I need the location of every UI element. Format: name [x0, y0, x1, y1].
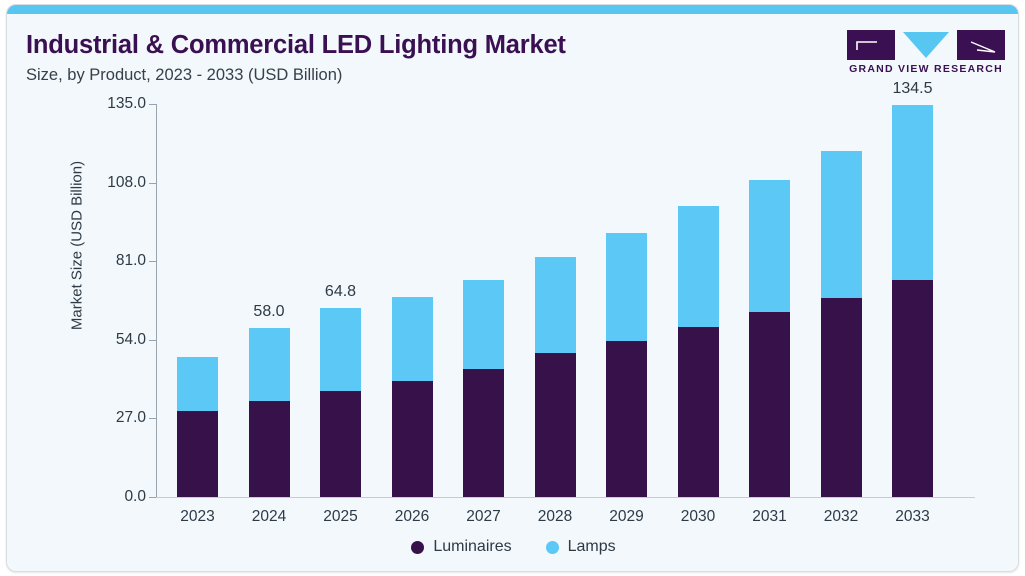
bar-segment-lamps[interactable]	[392, 297, 433, 381]
y-axis-tick-label: 54.0	[58, 331, 146, 349]
x-axis-tick-label: 2023	[158, 508, 238, 526]
bar-segment-luminaires[interactable]	[749, 312, 790, 497]
x-axis-tick-label: 2026	[372, 508, 452, 526]
legend-label: Luminaires	[433, 538, 511, 556]
y-axis-tick-label: 108.0	[58, 174, 146, 192]
x-axis-tick-label: 2030	[658, 508, 738, 526]
y-axis-line	[156, 104, 157, 497]
y-axis-tick-label: 27.0	[58, 409, 146, 427]
legend-label: Lamps	[568, 538, 616, 556]
x-axis-line	[156, 497, 975, 498]
chart-plot-area: Market Size (USD Billion) 0.027.054.081.…	[7, 5, 1019, 572]
bar-segment-lamps[interactable]	[535, 257, 576, 353]
bar-segment-lamps[interactable]	[463, 280, 504, 368]
x-axis-tick-label: 2025	[301, 508, 381, 526]
x-axis-tick-label: 2028	[515, 508, 595, 526]
bar-segment-lamps[interactable]	[606, 233, 647, 341]
x-axis-tick-label: 2033	[873, 508, 953, 526]
legend-item[interactable]: Luminaires	[411, 538, 511, 556]
bar-segment-luminaires[interactable]	[249, 401, 290, 497]
bar-segment-luminaires[interactable]	[535, 353, 576, 497]
x-axis-tick-label: 2029	[587, 508, 667, 526]
bar-value-label: 58.0	[224, 303, 314, 321]
y-axis-tick-mark	[149, 261, 156, 262]
chart-legend: LuminairesLamps	[7, 538, 1019, 556]
bar-segment-lamps[interactable]	[678, 206, 719, 327]
x-axis-tick-label: 2027	[444, 508, 524, 526]
bar-value-label: 64.8	[296, 283, 386, 301]
y-axis-label: Market Size (USD Billion)	[69, 136, 86, 356]
chart-card: Industrial & Commercial LED Lighting Mar…	[6, 4, 1019, 572]
y-axis-tick-mark	[149, 183, 156, 184]
bar-segment-lamps[interactable]	[892, 105, 933, 280]
bar-segment-lamps[interactable]	[177, 357, 218, 411]
bar-segment-luminaires[interactable]	[606, 341, 647, 497]
legend-swatch-icon	[411, 541, 424, 554]
bar-segment-lamps[interactable]	[821, 151, 862, 297]
y-axis-tick-mark	[149, 104, 156, 105]
bar-value-label: 134.5	[868, 80, 958, 98]
bar-segment-luminaires[interactable]	[892, 280, 933, 497]
bar-segment-luminaires[interactable]	[320, 391, 361, 497]
y-axis-tick-mark	[149, 418, 156, 419]
y-axis-tick-mark	[149, 497, 156, 498]
bar-segment-luminaires[interactable]	[821, 298, 862, 497]
bar-segment-lamps[interactable]	[320, 308, 361, 391]
x-axis-tick-label: 2024	[229, 508, 309, 526]
x-axis-tick-label: 2032	[801, 508, 881, 526]
y-axis-tick-mark	[149, 340, 156, 341]
bar-segment-luminaires[interactable]	[678, 327, 719, 497]
bar-segment-lamps[interactable]	[749, 180, 790, 312]
legend-swatch-icon	[546, 541, 559, 554]
bar-segment-luminaires[interactable]	[177, 411, 218, 497]
x-axis-tick-label: 2031	[730, 508, 810, 526]
y-axis-tick-label: 81.0	[58, 252, 146, 270]
bar-segment-luminaires[interactable]	[463, 369, 504, 497]
y-axis-tick-label: 135.0	[58, 95, 146, 113]
bar-segment-lamps[interactable]	[249, 328, 290, 400]
y-axis-tick-label: 0.0	[58, 488, 146, 506]
legend-item[interactable]: Lamps	[546, 538, 616, 556]
bar-segment-luminaires[interactable]	[392, 381, 433, 497]
